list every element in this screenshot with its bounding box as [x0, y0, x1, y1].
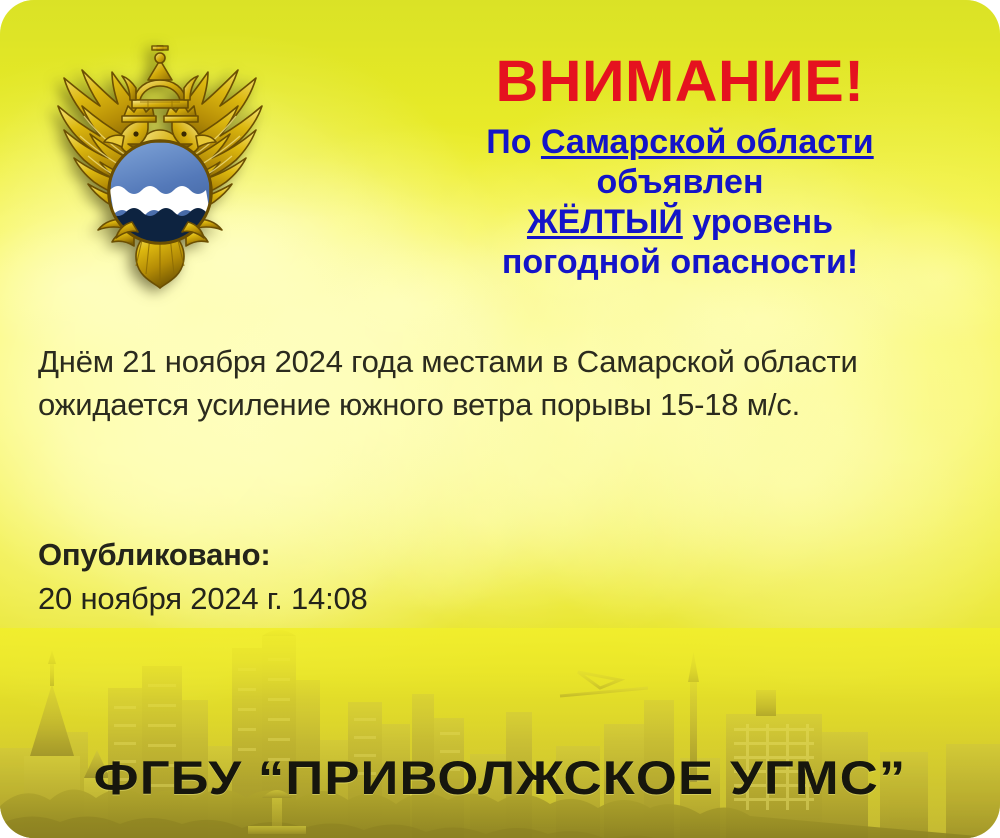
published-datetime: 20 ноября 2024 г. 14:08 — [38, 577, 738, 621]
headline-block: ВНИМАНИЕ! По Самарской области объявлен … — [390, 52, 970, 282]
warning-level-suffix: уровень — [683, 203, 833, 241]
warning-prefix: По — [486, 123, 541, 161]
roshydromet-eagle-emblem-icon — [36, 44, 284, 292]
warning-line-declared: объявлен — [390, 162, 970, 202]
published-block: Опубликовано: 20 ноября 2024 г. 14:08 — [38, 533, 738, 621]
warning-line-level: ЖЁЛТЫЙ уровень — [390, 202, 970, 242]
attention-title: ВНИМАНИЕ! — [384, 52, 976, 112]
warning-level-word: ЖЁЛТЫЙ — [527, 203, 683, 241]
weather-warning-card: ВНИМАНИЕ! По Самарской области объявлен … — [0, 0, 1000, 838]
warning-region-name: Самарской области — [541, 123, 874, 161]
warning-line-danger: погодной опасности! — [390, 242, 970, 282]
organisation-banner: ФГБУ “ПРИВОЛЖСКОЕ УГМС” — [0, 752, 1000, 804]
city-skyline-silhouette — [0, 628, 1000, 838]
forecast-body-text: Днём 21 ноября 2024 года местами в Самар… — [38, 340, 918, 426]
published-label: Опубликовано: — [38, 533, 738, 577]
warning-line-region: По Самарской области — [390, 122, 970, 162]
